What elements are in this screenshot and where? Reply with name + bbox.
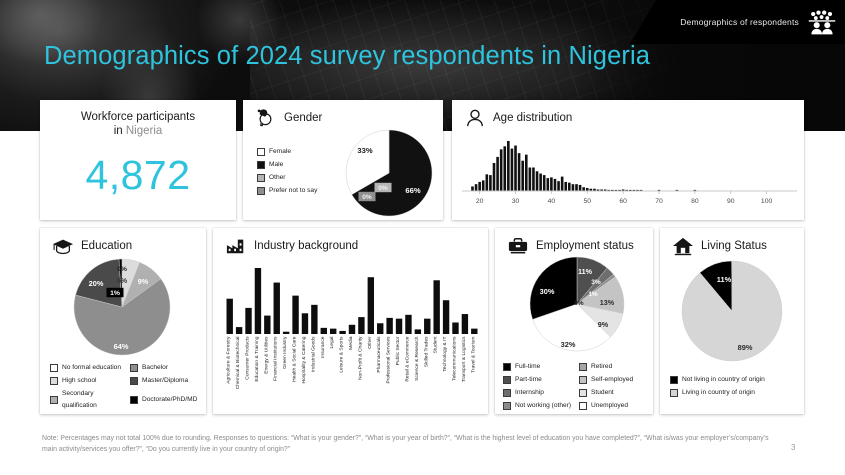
legend-swatch-unemployed bbox=[579, 402, 587, 410]
svg-text:66%: 66% bbox=[405, 186, 420, 195]
svg-text:11%: 11% bbox=[578, 267, 593, 276]
card-gender: Gender Female Male Other Prefer not to s… bbox=[243, 100, 443, 220]
legend-label: Internship bbox=[515, 387, 544, 399]
svg-text:Pharmaceuticals: Pharmaceuticals bbox=[376, 336, 382, 373]
svg-text:Skilled Trades: Skilled Trades bbox=[423, 336, 429, 367]
card-education: Education 6%9%64%20%0%1% No formal educa… bbox=[40, 228, 206, 414]
svg-text:Other: Other bbox=[367, 336, 373, 349]
legend-item: Master/Diploma bbox=[130, 375, 202, 387]
svg-text:Consumer Products: Consumer Products bbox=[245, 336, 251, 380]
legend-label: Bachelor bbox=[142, 362, 168, 374]
legend-item: Not working (other) bbox=[503, 400, 577, 412]
svg-text:Retail & eCommerce: Retail & eCommerce bbox=[404, 336, 410, 381]
svg-text:6%: 6% bbox=[117, 276, 128, 285]
living-title: Living Status bbox=[701, 240, 767, 252]
legend-item: Doctorate/PhD/MD bbox=[130, 388, 202, 411]
svg-text:Education & Training: Education & Training bbox=[254, 336, 260, 381]
svg-text:100: 100 bbox=[761, 198, 773, 205]
legend-label: Not living in country of origin bbox=[682, 374, 765, 386]
svg-text:Technology & IT: Technology & IT bbox=[442, 336, 448, 371]
legend-item: Unemployed bbox=[579, 400, 649, 412]
legend-item: Internship bbox=[503, 387, 577, 399]
legend-label: Not working (other) bbox=[515, 400, 571, 412]
legend-label: Prefer not to say bbox=[269, 185, 317, 197]
svg-text:1%: 1% bbox=[588, 291, 598, 298]
svg-text:Agriculture & Forestry: Agriculture & Forestry bbox=[226, 336, 232, 384]
svg-text:Transport & Logistics: Transport & Logistics bbox=[461, 336, 467, 382]
education-title: Education bbox=[81, 240, 132, 252]
card-age-distribution: Age distribution 2030405060708090100 bbox=[452, 100, 804, 220]
svg-text:Insurance: Insurance bbox=[320, 336, 326, 358]
legend-label: Doctorate/PhD/MD bbox=[142, 394, 197, 406]
legend-item: Bachelor bbox=[130, 362, 202, 374]
workforce-title-prefix: in bbox=[114, 125, 126, 137]
svg-text:30: 30 bbox=[512, 198, 520, 205]
legend-swatch-no-formal-education bbox=[50, 364, 58, 372]
svg-text:90: 90 bbox=[727, 198, 735, 205]
svg-text:Leisure & Sports: Leisure & Sports bbox=[339, 336, 345, 373]
svg-text:Telecommunications: Telecommunications bbox=[451, 336, 457, 381]
legend-swatch-self-employed bbox=[579, 376, 587, 384]
legend-swatch-living-in-country-of-origin bbox=[670, 389, 678, 397]
page-title: Demographics of 2024 survey respondents … bbox=[44, 42, 650, 71]
svg-text:9%: 9% bbox=[138, 277, 149, 286]
svg-text:40: 40 bbox=[548, 198, 556, 205]
svg-text:50: 50 bbox=[583, 198, 591, 205]
education-pie-chart: 6%9%64%20%0%1% bbox=[63, 255, 181, 359]
gender-title: Gender bbox=[284, 112, 322, 124]
card-living-status: Living Status 11%89% Not living in count… bbox=[660, 228, 804, 414]
svg-text:Health & Social Care: Health & Social Care bbox=[292, 336, 298, 382]
legend-item: Secondary qualification bbox=[50, 388, 128, 411]
legend-item: Living in country of origin bbox=[670, 387, 802, 399]
legend-item: Not living in country of origin bbox=[670, 374, 802, 386]
living-legend: Not living in country of origin Living i… bbox=[670, 374, 802, 400]
legend-swatch-internship bbox=[503, 389, 511, 397]
legend-item: Part-time bbox=[503, 374, 577, 386]
svg-text:60: 60 bbox=[619, 198, 627, 205]
legend-label: Student bbox=[591, 387, 614, 399]
legend-item: Other bbox=[257, 172, 317, 184]
svg-text:Science & Research: Science & Research bbox=[414, 336, 420, 381]
workforce-title: Workforce participants in Nigeria bbox=[40, 100, 236, 138]
group-of-people-icon bbox=[807, 8, 837, 36]
age-title: Age distribution bbox=[493, 112, 572, 124]
house-icon bbox=[672, 236, 694, 256]
svg-text:Media: Media bbox=[348, 336, 354, 350]
age-histogram: 2030405060708090100 bbox=[462, 133, 797, 209]
workforce-title-line1: Workforce participants bbox=[40, 110, 236, 124]
svg-text:70: 70 bbox=[655, 198, 663, 205]
legend-item: Full-time bbox=[503, 361, 577, 373]
age-header: Age distribution bbox=[452, 100, 804, 128]
legend-item: Student bbox=[579, 387, 649, 399]
svg-text:Student: Student bbox=[433, 336, 439, 354]
workforce-value: 4,872 bbox=[40, 152, 236, 199]
legend-swatch-student bbox=[579, 389, 587, 397]
legend-swatch-retired bbox=[579, 363, 587, 371]
workforce-country: Nigeria bbox=[126, 125, 162, 137]
factory-icon bbox=[225, 236, 247, 256]
industry-title: Industry background bbox=[254, 240, 358, 252]
card-employment-status: Employment status 11%3%1%0%13%9%32%30% F… bbox=[495, 228, 653, 414]
legend-label: No formal education bbox=[62, 362, 121, 374]
card-industry-background: Industry background Agriculture & Forest… bbox=[213, 228, 488, 414]
legend-swatch-not-living-in-country-of-origin bbox=[670, 376, 678, 384]
svg-text:Green Industry: Green Industry bbox=[282, 336, 288, 369]
svg-text:0%: 0% bbox=[362, 194, 372, 201]
gender-legend: Female Male Other Prefer not to say bbox=[257, 146, 317, 198]
living-header: Living Status bbox=[660, 228, 804, 256]
gender-head-icon bbox=[255, 108, 277, 128]
section-ribbon-label: Demographics of respondents bbox=[680, 17, 799, 27]
legend-swatch-full-time bbox=[503, 363, 511, 371]
living-pie-chart: 11%89% bbox=[680, 254, 784, 368]
legend-swatch-master-diploma bbox=[130, 377, 138, 385]
legend-swatch-part-time bbox=[503, 376, 511, 384]
svg-text:0%: 0% bbox=[117, 266, 127, 273]
svg-text:20%: 20% bbox=[89, 279, 104, 288]
industry-header: Industry background bbox=[213, 228, 488, 256]
svg-text:9%: 9% bbox=[598, 320, 609, 329]
legend-label: Male bbox=[269, 159, 283, 171]
svg-text:33%: 33% bbox=[357, 146, 372, 155]
legend-item: Retired bbox=[579, 361, 649, 373]
page-number: 3 bbox=[791, 443, 795, 452]
svg-text:Professional Services: Professional Services bbox=[386, 336, 392, 384]
legend-label: Master/Diploma bbox=[142, 375, 188, 387]
svg-text:32%: 32% bbox=[561, 340, 576, 349]
legend-label: Retired bbox=[591, 361, 612, 373]
svg-text:64%: 64% bbox=[114, 342, 129, 351]
svg-text:Non-Profit & Charity: Non-Profit & Charity bbox=[357, 336, 363, 380]
legend-swatch-prefer-not-to-say bbox=[257, 187, 265, 195]
person-icon bbox=[464, 108, 486, 128]
education-header: Education bbox=[40, 228, 206, 256]
legend-swatch-male bbox=[257, 161, 265, 169]
workforce-title-line2: in Nigeria bbox=[40, 124, 236, 138]
svg-text:Financial Institutions: Financial Institutions bbox=[273, 336, 279, 381]
legend-label: Secondary qualification bbox=[62, 388, 128, 411]
legend-swatch-other bbox=[257, 174, 265, 182]
svg-text:3%: 3% bbox=[591, 279, 601, 286]
employment-pie-chart: 11%3%1%0%13%9%32%30% bbox=[522, 252, 632, 356]
gender-header: Gender bbox=[243, 100, 443, 128]
svg-text:Energy & Utilities: Energy & Utilities bbox=[263, 336, 269, 374]
svg-text:30%: 30% bbox=[540, 287, 555, 296]
svg-text:20: 20 bbox=[476, 198, 484, 205]
slide-root: Demographics of respondents Demographics… bbox=[0, 0, 845, 475]
legend-label: Female bbox=[269, 146, 291, 158]
legend-swatch-not-working-other bbox=[503, 402, 511, 410]
graduation-cap-icon bbox=[52, 236, 74, 256]
legend-label: Self-employed bbox=[591, 374, 633, 386]
legend-item: Female bbox=[257, 146, 317, 158]
gender-pie-chart: 66%33%0%0% bbox=[343, 127, 435, 219]
education-legend: No formal education Bachelor High school… bbox=[50, 362, 200, 413]
svg-text:13%: 13% bbox=[600, 298, 615, 307]
legend-item: Self-employed bbox=[579, 374, 649, 386]
employment-legend: Full-time Retired Part-time Self-employe… bbox=[503, 361, 651, 413]
svg-text:Chemical & Biotechnical: Chemical & Biotechnical bbox=[235, 337, 241, 390]
section-ribbon: Demographics of respondents bbox=[630, 0, 845, 44]
legend-label: High school bbox=[62, 375, 96, 387]
svg-text:80: 80 bbox=[691, 198, 699, 205]
legend-swatch-bachelor bbox=[130, 364, 138, 372]
legend-swatch-doctorate bbox=[130, 396, 138, 404]
industry-bar-chart: Agriculture & ForestryChemical & Biotech… bbox=[221, 256, 483, 408]
svg-text:0%: 0% bbox=[574, 300, 584, 307]
svg-text:1%: 1% bbox=[110, 290, 120, 297]
legend-swatch-female bbox=[257, 148, 265, 156]
svg-text:11%: 11% bbox=[717, 275, 732, 284]
legend-label: Full-time bbox=[515, 361, 540, 373]
svg-text:0%: 0% bbox=[378, 185, 388, 192]
legend-item: High school bbox=[50, 375, 128, 387]
employment-title: Employment status bbox=[536, 240, 634, 252]
legend-label: Part-time bbox=[515, 374, 542, 386]
svg-text:89%: 89% bbox=[738, 343, 753, 352]
footnote: Note: Percentages may not total 100% due… bbox=[42, 434, 777, 455]
legend-item: Male bbox=[257, 159, 317, 171]
legend-label: Other bbox=[269, 172, 286, 184]
legend-swatch-secondary-qualification bbox=[50, 396, 58, 404]
svg-text:Industrial Goods: Industrial Goods bbox=[310, 336, 316, 372]
legend-swatch-high-school bbox=[50, 377, 58, 385]
card-workforce-participants: Workforce participants in Nigeria 4,872 bbox=[40, 100, 236, 220]
svg-text:Legal: Legal bbox=[329, 337, 335, 349]
legend-label: Living in country of origin bbox=[682, 387, 755, 399]
legend-label: Unemployed bbox=[591, 400, 628, 412]
legend-item: Prefer not to say bbox=[257, 185, 317, 197]
svg-text:Hospitality & Catering: Hospitality & Catering bbox=[301, 336, 307, 383]
legend-item: No formal education bbox=[50, 362, 128, 374]
svg-text:Travel & Tourism: Travel & Tourism bbox=[470, 337, 476, 373]
svg-text:Public Sector: Public Sector bbox=[395, 336, 401, 365]
